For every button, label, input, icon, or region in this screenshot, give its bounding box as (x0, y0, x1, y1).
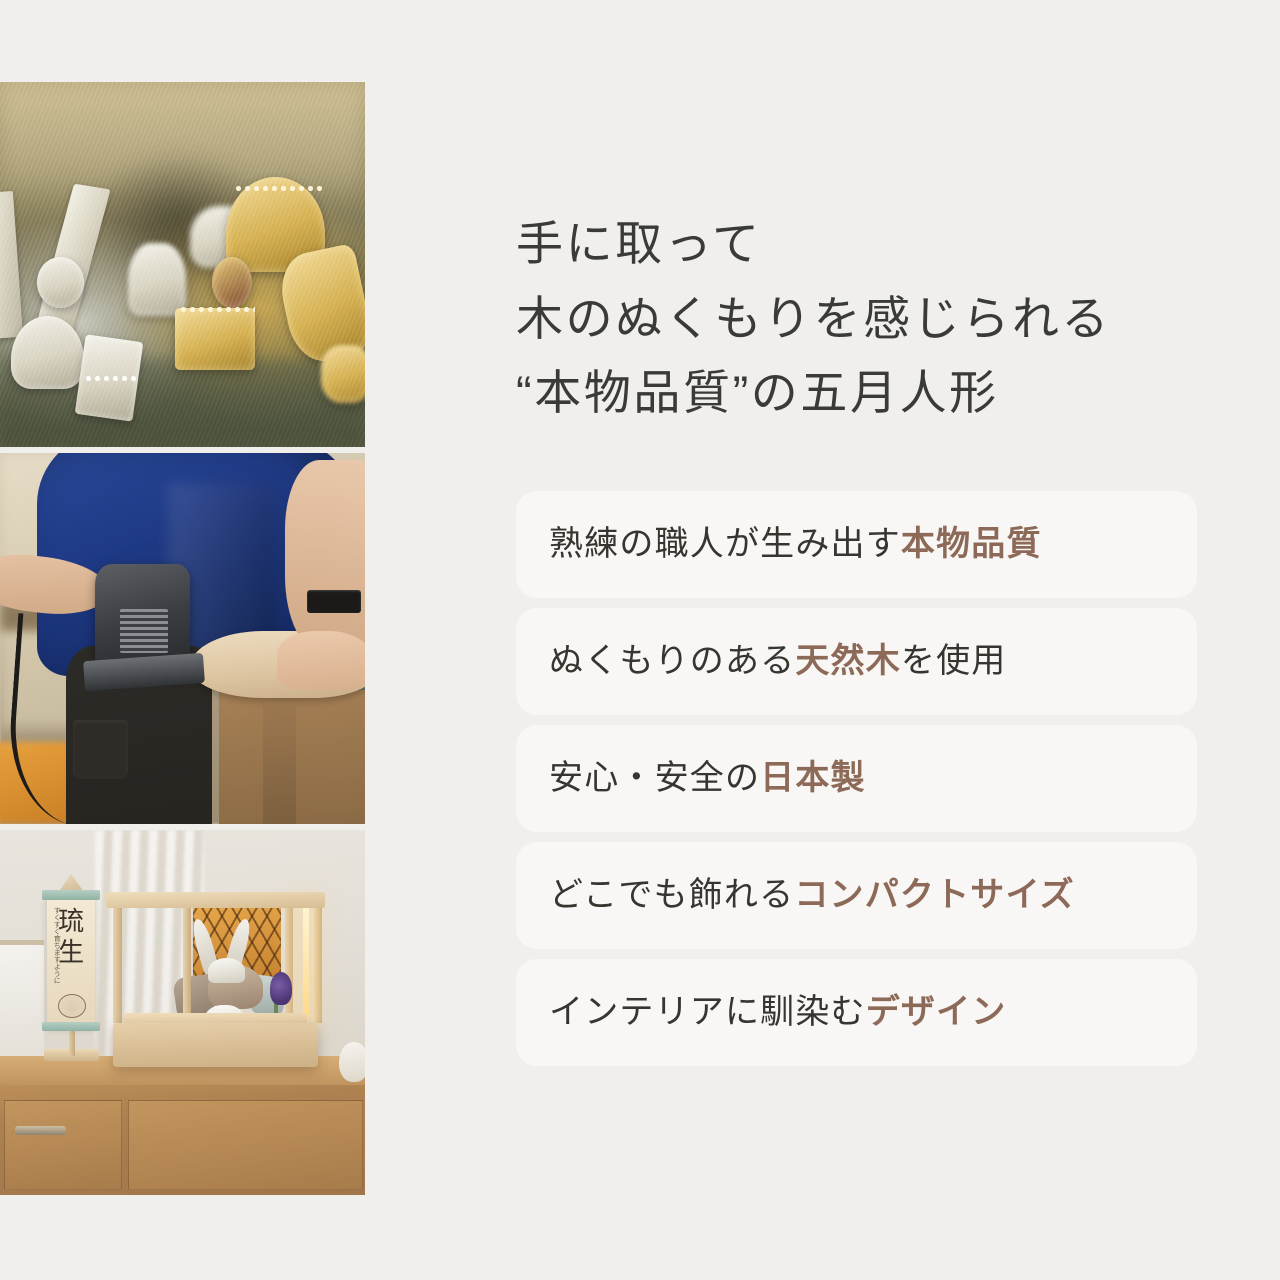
feature-card-3: 安心・安全の日本製 (516, 725, 1197, 832)
feature-text-3: 安心・安全の日本製 (549, 758, 866, 799)
case-post (183, 899, 191, 1023)
sander-vents (120, 609, 167, 654)
armor-parts-workshop-photo (0, 82, 365, 447)
feature-plain-after-2: を使用 (901, 642, 1007, 680)
drawer-handle (15, 1126, 66, 1135)
photo-column: 琉生 すくすく育ちますように (0, 82, 365, 1195)
window-frame (0, 940, 44, 1069)
feature-plain-before-1: 熟練の職人が生み出す (549, 525, 901, 563)
craftsman-sanding-photo (0, 453, 365, 824)
headline-line-3: “本物品質”の五月人形 (516, 356, 1111, 430)
purple-flower (270, 972, 292, 1005)
banner-top-bar (42, 890, 100, 899)
workbench-leg (263, 705, 296, 824)
feature-highlight-3: 日本製 (760, 759, 866, 797)
page-headline: 手に取って 木のぬくもりを感じられる “本物品質”の五月人形 (516, 207, 1111, 430)
feature-text-5: インテリアに馴染むデザイン (549, 992, 1006, 1033)
wrist-watch (307, 590, 362, 612)
kabuto-display-scene: 琉生 すくすく育ちますように (0, 830, 365, 1195)
case-post (113, 899, 121, 1023)
rabbit-ornament (339, 1042, 365, 1082)
case-top-rail (106, 892, 325, 908)
dresser-drawer (4, 1100, 123, 1190)
feature-highlight-4: コンパクトサイズ (794, 876, 1075, 914)
right-arm (285, 460, 365, 653)
headline-line-1: 手に取って (516, 207, 1111, 281)
kabuto-crest (208, 958, 245, 984)
feature-text-4: どこでも飾れるコンパクトサイズ (549, 875, 1075, 916)
feature-plain-before-2: ぬくもりのある (549, 642, 795, 680)
feature-plain-before-3: 安心・安全の (549, 759, 760, 797)
feature-text-1: 熟練の職人が生み出す本物品質 (549, 524, 1042, 565)
feature-card-2: ぬくもりのある天然木を使用 (516, 608, 1197, 715)
banner-subtext: すくすく育ちますように (49, 907, 60, 984)
feature-card-1: 熟練の職人が生み出す本物品質 (516, 491, 1197, 598)
feature-list: 熟練の職人が生み出す本物品質 ぬくもりのある天然木を使用 安心・安全の日本製 ど… (516, 491, 1197, 1066)
banner-bottom-bar (42, 1022, 100, 1031)
feature-highlight-2: 天然木 (795, 642, 901, 680)
headline-line-2: 木のぬくもりを感じられる (516, 282, 1111, 356)
armor-parts-scene (0, 82, 365, 447)
case-post (314, 899, 322, 1023)
feature-highlight-5: デザイン (866, 993, 1007, 1031)
feature-text-2: ぬくもりのある天然木を使用 (549, 641, 1007, 682)
feature-card-5: インテリアに馴染むデザイン (516, 959, 1197, 1066)
craftsman-sanding-scene (0, 453, 365, 824)
banner-seal (58, 994, 86, 1018)
content-column: 手に取って 木のぬくもりを感じられる “本物品質”の五月人形 熟練の職人が生み出… (516, 0, 1216, 1280)
right-hand (277, 631, 365, 690)
case-light-strip (303, 903, 309, 1020)
dresser-drawer (128, 1100, 364, 1190)
feature-card-4: どこでも飾れるコンパクトサイズ (516, 842, 1197, 949)
kabuto-display-case-photo: 琉生 すくすく育ちますように (0, 830, 365, 1195)
case-post (285, 899, 293, 1023)
feature-plain-before-5: インテリアに馴染む (549, 993, 866, 1031)
feature-highlight-1: 本物品質 (901, 525, 1042, 563)
feature-plain-before-4: どこでも飾れる (549, 876, 794, 914)
case-base (113, 1023, 317, 1067)
photo-grain (0, 82, 365, 447)
